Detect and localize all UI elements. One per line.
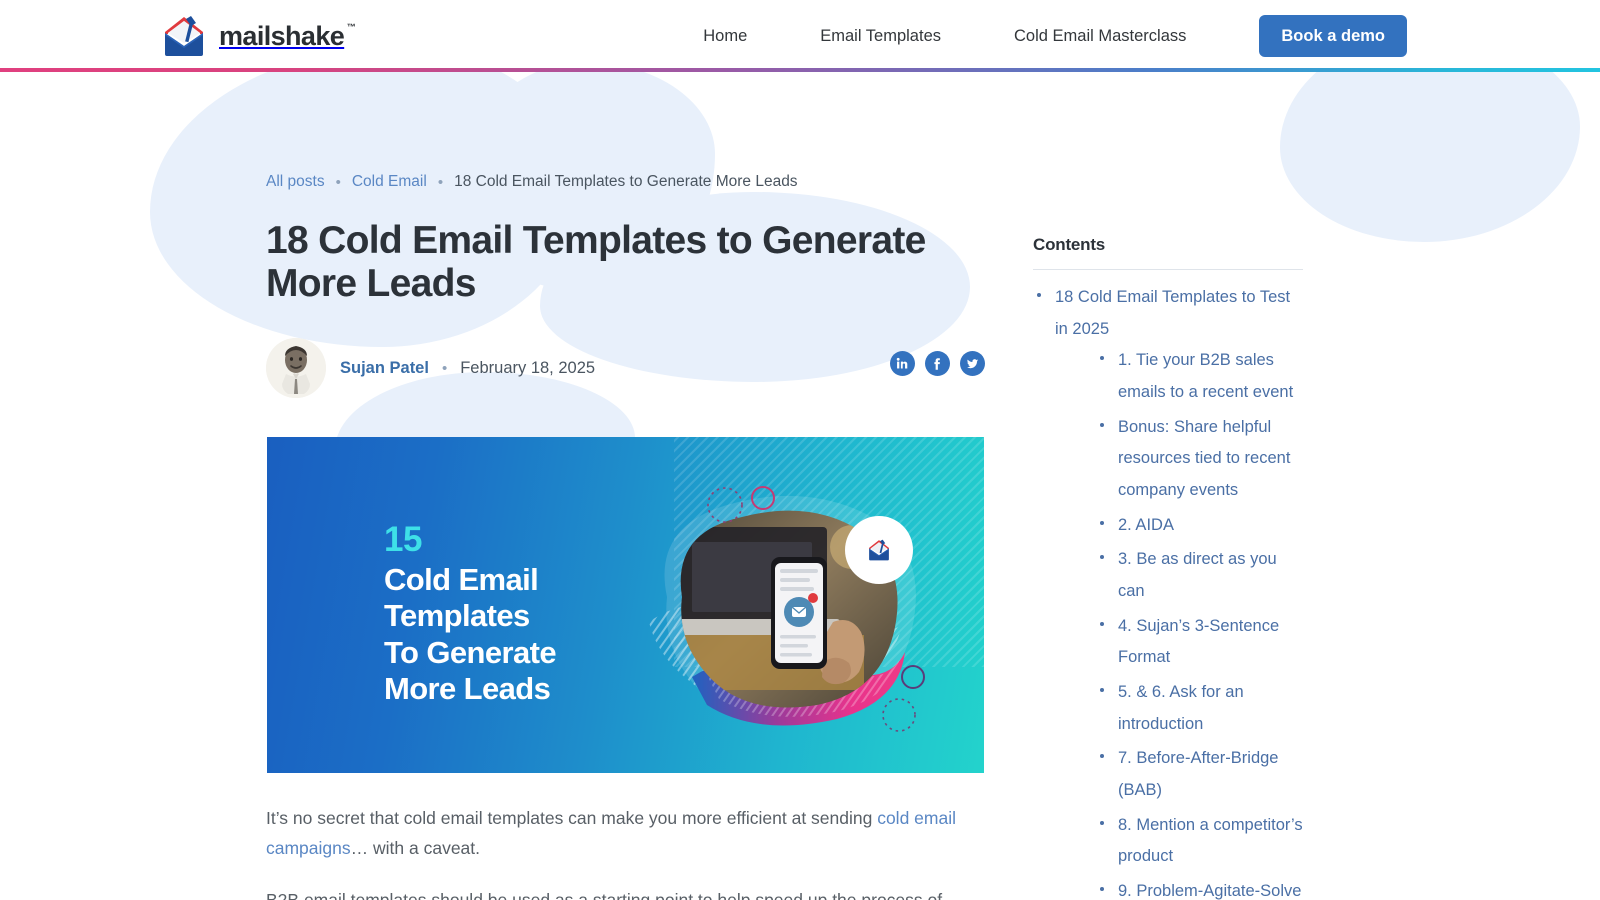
share-buttons (890, 351, 985, 376)
toc-divider (1033, 269, 1303, 270)
toc-link-root[interactable]: 18 Cold Email Templates to Test in 2025 (1055, 282, 1305, 345)
bullet-icon (1100, 688, 1104, 692)
toc-link-5-6[interactable]: 5. & 6. Ask for an introduction (1118, 677, 1305, 740)
bullet-icon (1100, 887, 1104, 891)
page-title: 18 Cold Email Templates to Generate More… (266, 220, 926, 306)
toc-subitem: 1. Tie your B2B sales emails to a recent… (1093, 345, 1305, 408)
hero-line-4: More Leads (384, 671, 556, 707)
breadcrumb-separator: • (438, 175, 443, 190)
post-author[interactable]: Sujan Patel (340, 359, 429, 378)
toc-link-4[interactable]: 4. Sujan’s 3-Sentence Format (1118, 611, 1305, 674)
toc-subitem: 3. Be as direct as you can (1093, 544, 1305, 607)
toc-link-9[interactable]: 9. Problem-Agitate-Solve (PAS) (1118, 876, 1305, 900)
post-date: February 18, 2025 (460, 359, 595, 378)
toc-link-bonus[interactable]: Bonus: Share helpful resources tied to r… (1118, 412, 1305, 507)
paragraph-1-text-b: … with a caveat. (351, 838, 480, 858)
bullet-icon (1100, 521, 1104, 525)
nav-item-email-templates[interactable]: Email Templates (820, 27, 941, 46)
toc-sublist: 1. Tie your B2B sales emails to a recent… (1055, 345, 1305, 900)
logo-wordmark: mailshake ™ (219, 21, 344, 52)
paragraph-2: B2B email templates should be used as a … (266, 886, 991, 900)
hero-illustration (637, 447, 984, 773)
table-of-contents: Contents 18 Cold Email Templates to Test… (1033, 235, 1305, 900)
toc-subitem: 5. & 6. Ask for an introduction (1093, 677, 1305, 740)
paragraph-1-text-a: It’s no secret that cold email templates… (266, 808, 877, 828)
toc-item: 18 Cold Email Templates to Test in 2025 … (1033, 282, 1305, 900)
post-meta: Sujan Patel • February 18, 2025 (266, 338, 595, 398)
toc-subitem: 8. Mention a competitor’s product (1093, 810, 1305, 873)
hero-image: 15 Cold Email Templates To Generate More… (267, 437, 984, 773)
avatar (266, 338, 326, 398)
toc-link-7[interactable]: 7. Before-After-Bridge (BAB) (1118, 743, 1305, 806)
share-twitter-icon[interactable] (960, 351, 985, 376)
breadcrumb-cold-email[interactable]: Cold Email (352, 173, 427, 191)
site-header: mailshake ™ Home Email Templates Cold Em… (0, 0, 1600, 72)
bullet-icon (1100, 555, 1104, 559)
nav-item-home[interactable]: Home (703, 27, 747, 46)
bullet-icon (1100, 622, 1104, 626)
toc-list: 18 Cold Email Templates to Test in 2025 … (1033, 282, 1305, 900)
hero-headline: 15 Cold Email Templates To Generate More… (384, 522, 556, 707)
breadcrumb-all-posts[interactable]: All posts (266, 173, 325, 191)
page-body: All posts • Cold Email • 18 Cold Email T… (0, 72, 1600, 900)
meta-separator: • (442, 360, 447, 377)
bullet-icon (1100, 754, 1104, 758)
toc-link-8[interactable]: 8. Mention a competitor’s product (1118, 810, 1305, 873)
hero-number: 15 (384, 522, 556, 557)
toc-subitem: 2. AIDA (1093, 510, 1305, 542)
toc-link-1[interactable]: 1. Tie your B2B sales emails to a recent… (1118, 345, 1305, 408)
toc-subitem: 4. Sujan’s 3-Sentence Format (1093, 611, 1305, 674)
share-linkedin-icon[interactable] (890, 351, 915, 376)
hero-line-2: Templates (384, 598, 556, 634)
bullet-icon (1037, 293, 1041, 297)
breadcrumb: All posts • Cold Email • 18 Cold Email T… (266, 173, 798, 191)
bullet-icon (1100, 821, 1104, 825)
mailshake-envelope-logo-icon (160, 12, 208, 60)
toc-subitem: Bonus: Share helpful resources tied to r… (1093, 412, 1305, 507)
toc-link-3[interactable]: 3. Be as direct as you can (1118, 544, 1305, 607)
logo-trademark: ™ (347, 22, 355, 32)
bullet-icon (1100, 423, 1104, 427)
article-body: It’s no secret that cold email templates… (266, 804, 991, 900)
book-a-demo-button[interactable]: Book a demo (1259, 15, 1407, 57)
nav-item-cold-email-masterclass[interactable]: Cold Email Masterclass (1014, 27, 1186, 46)
share-facebook-icon[interactable] (925, 351, 950, 376)
main-navigation: Home Email Templates Cold Email Mastercl… (703, 0, 1600, 72)
site-logo[interactable]: mailshake ™ (160, 12, 344, 60)
breadcrumb-current: 18 Cold Email Templates to Generate More… (454, 173, 797, 191)
breadcrumb-separator: • (336, 175, 341, 190)
toc-subitem: 9. Problem-Agitate-Solve (PAS) (1093, 876, 1305, 900)
bullet-icon (1100, 356, 1104, 360)
hero-line-1: Cold Email (384, 562, 556, 598)
header-accent-bar (0, 68, 1600, 72)
toc-title: Contents (1033, 235, 1305, 269)
paragraph-1: It’s no secret that cold email templates… (266, 804, 991, 864)
hero-line-3: To Generate (384, 635, 556, 671)
toc-subitem: 7. Before-After-Bridge (BAB) (1093, 743, 1305, 806)
toc-link-2[interactable]: 2. AIDA (1118, 510, 1305, 542)
decorative-blob (1280, 72, 1580, 242)
